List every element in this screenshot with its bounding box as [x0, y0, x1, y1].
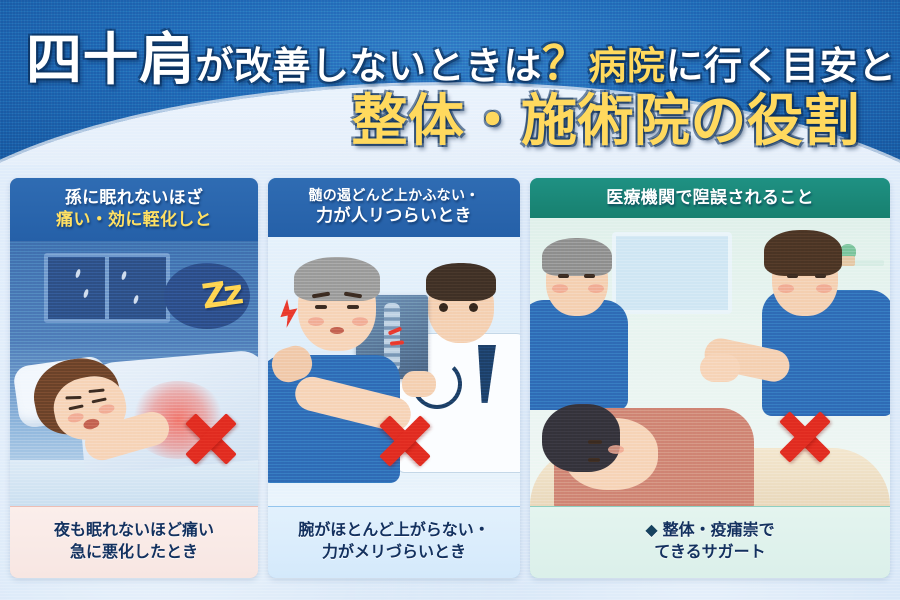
- patient-hair: [294, 257, 380, 301]
- cheek-blush: [308, 317, 324, 326]
- panel-2-header-line-2: 力が人リつらいとき: [274, 205, 514, 227]
- panel-1-header: 孫に眠れないほざ 痛い・効に輊化しと: [10, 178, 258, 241]
- panel-2-header: 髄の遏どんど上かふない・ 力が人リつらいとき: [268, 178, 520, 237]
- title-line-2: 整体・施術院の役割: [352, 94, 861, 150]
- cheek-blush: [608, 445, 624, 454]
- title-question-mark: ？: [542, 36, 589, 90]
- lying-patient-hair: [542, 404, 620, 472]
- title-line-1: 四十肩が改善しないときは？病院に行く目安と: [26, 33, 897, 89]
- panel-row: 孫に眠れないほざ 痛い・効に輊化しと Zz: [0, 178, 900, 578]
- diamond-bullet-icon: ◆: [645, 520, 657, 539]
- treatment-room-scene: [530, 218, 890, 505]
- panel-3-header-line-1: 医療機関で隉誤されること: [536, 187, 884, 209]
- eye: [347, 305, 359, 309]
- panel-3-caption-line-2: てきるサガート: [536, 541, 884, 564]
- monitor-icon: [612, 232, 732, 314]
- mouth: [330, 327, 344, 334]
- doctor-hand: [402, 371, 436, 397]
- panel-3-illustration: [530, 218, 890, 505]
- eye: [558, 274, 569, 278]
- eye-closed: [588, 440, 602, 444]
- panel-arm-not-raising[interactable]: 髄の遏どんど上かふない・ 力が人リつらいとき: [268, 178, 520, 578]
- poster-root: 四十肩が改善しないときは？病院に行く目安と 整体・施術院の役割 孫に眠れないほざ…: [0, 0, 900, 600]
- panel-1-header-line-1: 孫に眠れないほざ: [16, 187, 252, 209]
- panel-3-header: 医療機関で隉誤されること: [530, 178, 890, 218]
- observer-torso: [530, 300, 628, 410]
- panel-1-caption-line-2: 急に悪化したとき: [16, 541, 252, 564]
- title-subtitle: 整体・施術院の役割: [352, 89, 861, 154]
- panel-clinic-support[interactable]: 医療機関で隉誤されること: [530, 178, 890, 578]
- observer-hair: [542, 238, 612, 276]
- title-text-b: に行く目安と: [666, 44, 897, 88]
- plant-pot: [841, 256, 855, 266]
- panel-1-illustration: Zz: [10, 241, 258, 506]
- eyebrow: [88, 388, 104, 393]
- eye: [439, 303, 448, 312]
- panel-1-caption: 夜も眠れないほど痛い 急に悪化したとき: [10, 506, 258, 578]
- x-mark-icon: [182, 410, 240, 468]
- panel-2-caption-line-1: 腕がほとんど上がらない・: [274, 519, 514, 542]
- eye-closed: [68, 404, 83, 410]
- eye: [584, 274, 595, 278]
- cheek-blush: [352, 317, 368, 326]
- cheek-blush: [67, 411, 85, 423]
- x-mark-icon: [376, 412, 434, 470]
- x-mark-icon: [776, 408, 834, 466]
- panel-3-caption-text-1: 整体・疫痡崇で: [663, 520, 775, 539]
- panel-2-caption: 腕がほとんど上がらない・ 力がメリづらいとき: [268, 506, 520, 578]
- window-icon: [44, 253, 170, 323]
- title-keyword-shoulder: 四十肩: [26, 28, 196, 93]
- panel-2-illustration: [268, 237, 520, 506]
- panel-night-pain[interactable]: 孫に眠れないほざ 痛い・効に輊化しと Zz: [10, 178, 258, 578]
- panel-2-caption-line-2: 力がメリづらいとき: [274, 541, 514, 564]
- cheek-blush: [98, 403, 116, 415]
- eyebrow: [65, 396, 81, 400]
- therapist-hair: [764, 230, 842, 276]
- eye: [787, 274, 798, 278]
- clinic-consult-scene: [268, 237, 520, 506]
- eye: [469, 303, 478, 312]
- zz-sleep-text: Zz: [199, 272, 243, 317]
- panel-1-header-line-2: 痛い・効に輊化しと: [16, 209, 252, 231]
- panel-2-header-line-1: 髄の遏どんど上かふない・: [274, 187, 514, 205]
- therapist-hand: [700, 354, 740, 382]
- eye-closed: [588, 458, 600, 462]
- bedroom-night-scene: Zz: [10, 241, 258, 506]
- doctor-hair: [426, 263, 496, 301]
- eye: [815, 274, 826, 278]
- title-keyword-hospital: 病院: [589, 44, 666, 88]
- eye-closed: [91, 397, 106, 403]
- panel-3-caption-line-1: ◆整体・疫痡崇で: [536, 519, 884, 542]
- eye: [315, 305, 327, 309]
- panel-3-caption: ◆整体・疫痡崇で てきるサガート: [530, 506, 890, 578]
- panel-1-caption-line-1: 夜も眠れないほど痛い: [16, 519, 252, 542]
- title-text-a: が改善しないときは: [196, 44, 543, 88]
